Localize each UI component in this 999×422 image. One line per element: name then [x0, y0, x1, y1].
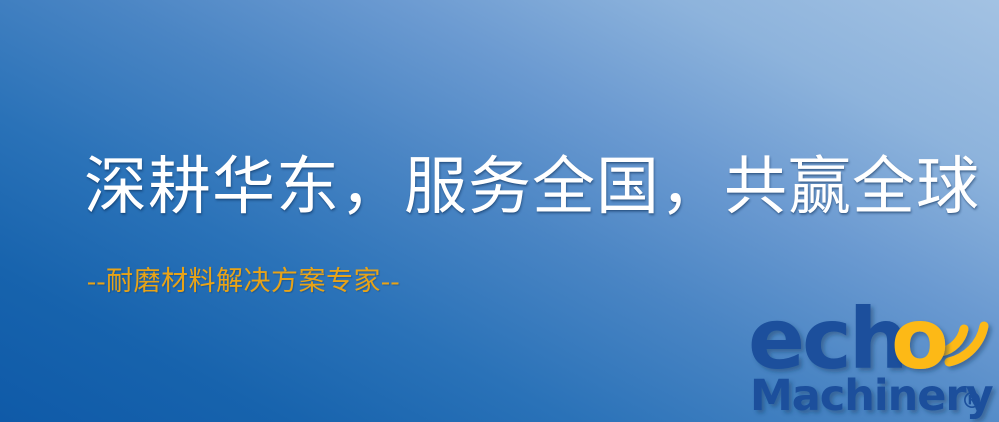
logo-text-machinery: Machinery [750, 371, 994, 421]
banner-subtitle: --耐磨材料解决方案专家-- [87, 265, 400, 297]
promo-banner: 深耕华东，服务全国，共赢全球 --耐磨材料解决方案专家-- ech o Mach… [0, 0, 999, 422]
banner-headline: 深耕华东，服务全国，共赢全球 [84, 152, 980, 223]
echo-machinery-logo: ech o Machinery ® [748, 288, 999, 422]
signal-waves-icon [941, 326, 984, 362]
logo-registered-mark: ® [961, 389, 983, 414]
